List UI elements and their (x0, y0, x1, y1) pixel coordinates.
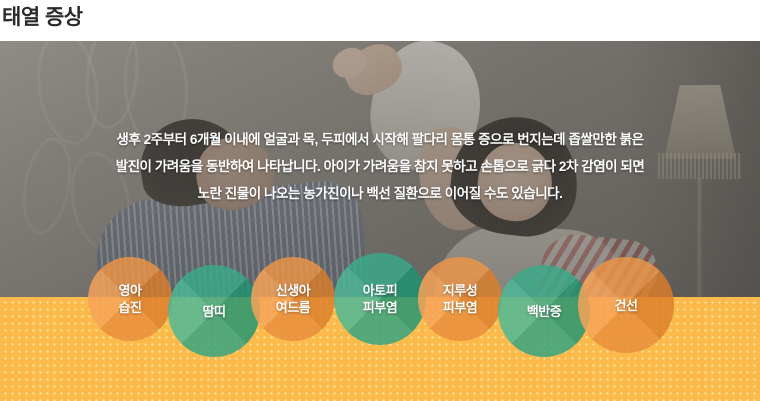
symptom-circle-geonseon[interactable]: 건선 (578, 257, 674, 353)
circle-label-line1: 신생아 (276, 283, 310, 298)
symptom-circle-jiruseong-pibuyeom[interactable]: 지루성 피부염 (418, 257, 502, 341)
circle-label-line1: 영아 (119, 283, 142, 298)
circle-label-line1: 아토피 (363, 283, 397, 298)
circle-label-line2: 피부염 (363, 300, 397, 315)
infographic-page: 태열 증상 생후 2주부터 6개월 (0, 0, 760, 401)
circle-label-line1: 백반증 (527, 304, 561, 319)
symptom-circle-ttamtti[interactable]: 땀띠 (168, 265, 260, 357)
circle-label-line2: 습진 (119, 300, 142, 315)
circle-label-line1: 지루성 (443, 283, 477, 298)
symptom-circle-yeongah-seupjin[interactable]: 영아 습진 (88, 257, 172, 341)
circle-label-line1: 땀띠 (203, 304, 226, 319)
symptom-circle-row: 영아 습진 땀띠 신생아 여드름 아토피 피부염 지루성 피부염 (0, 41, 760, 401)
title-bar: 태열 증상 (0, 0, 760, 41)
symptom-circle-atopi-pibuyeom[interactable]: 아토피 피부염 (334, 253, 426, 345)
circle-label-line2: 피부염 (443, 300, 477, 315)
circle-label-line2: 여드름 (276, 300, 310, 315)
symptom-circle-baekbanjeung[interactable]: 백반증 (498, 265, 590, 357)
page-title: 태열 증상 (2, 4, 83, 32)
circle-label-line1: 건선 (615, 298, 638, 313)
symptom-circle-sinsaenga-yeodeureum[interactable]: 신생아 여드름 (251, 257, 335, 341)
